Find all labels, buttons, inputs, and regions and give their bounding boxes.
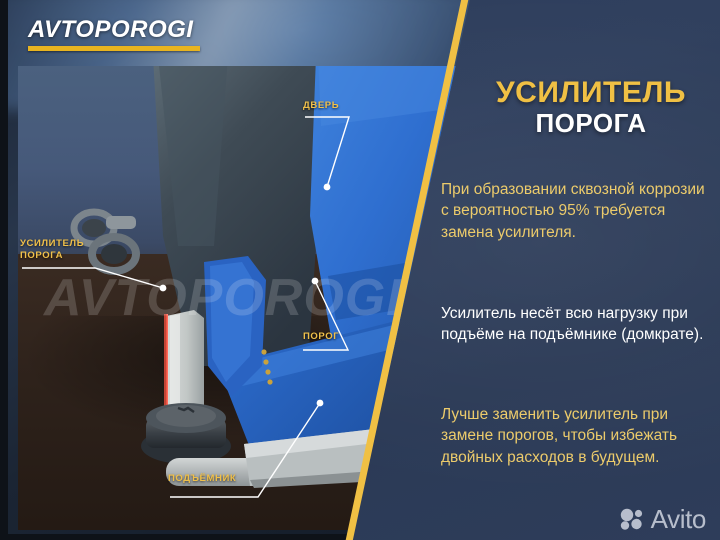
callout-lift: ПОДЪЁМНИК — [168, 473, 236, 485]
callout-door: ДВЕРЬ — [303, 100, 339, 112]
poster-canvas: AVTOPOROGI УСИЛИТЕЛЬ ПОРОГА ДВЕРЬ ПОРОГ … — [0, 0, 720, 540]
paragraph-load: Усилитель несёт всю нагрузку при подъёме… — [441, 303, 709, 346]
avito-logo-icon — [620, 508, 646, 530]
avito-watermark: Avito — [620, 506, 706, 532]
brand-logo: AVTOPOROGI — [28, 18, 200, 51]
avito-wordmark: Avito — [651, 506, 706, 532]
callout-reinforcement-line1: УСИЛИТЕЛЬ — [20, 238, 84, 250]
lift-pad — [141, 403, 231, 464]
page-title-line2: ПОРОГА — [470, 109, 712, 139]
callout-sill-label: ПОРОГ — [303, 331, 339, 343]
callout-reinforcement-line2: ПОРОГА — [20, 250, 84, 262]
brand-logo-underline — [28, 46, 200, 51]
frame-edge-left — [0, 0, 8, 540]
paragraph-advice: Лучше заменить усилитель при замене поро… — [441, 404, 709, 468]
page-title-line1: УСИЛИТЕЛЬ — [470, 77, 712, 109]
brand-logo-wordmark: AVTOPOROGI — [28, 18, 200, 42]
callout-lift-label: ПОДЪЁМНИК — [168, 473, 236, 485]
callout-sill: ПОРОГ — [303, 331, 339, 343]
callout-reinforcement: УСИЛИТЕЛЬ ПОРОГА — [20, 238, 84, 262]
paragraph-corrosion: При образовании сквозной коррозии с веро… — [441, 179, 709, 243]
callout-door-label: ДВЕРЬ — [303, 100, 339, 112]
page-title: УСИЛИТЕЛЬ ПОРОГА — [470, 77, 712, 138]
